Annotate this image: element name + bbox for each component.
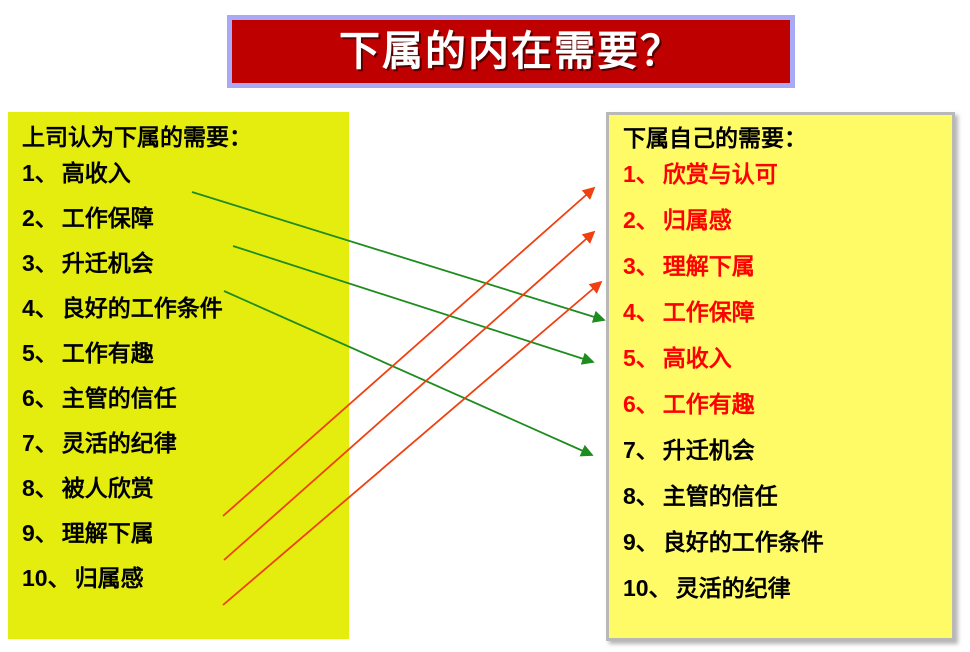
list-item-index: 9 <box>623 531 636 554</box>
list-item-index: 5 <box>22 342 35 365</box>
list-item: 5、高收入 <box>623 347 952 370</box>
list-item: 3、理解下属 <box>623 255 952 278</box>
list-item-index: 1 <box>623 163 636 186</box>
list-item-label: 高收入 <box>62 162 131 185</box>
list-item-label: 欣赏与认可 <box>663 163 778 186</box>
list-item: 5、工作有趣 <box>22 342 349 365</box>
list-item-index: 1 <box>22 162 35 185</box>
list-item-separator: 、 <box>35 477 58 500</box>
list-item-label: 理解下属 <box>62 522 154 545</box>
list-item-index: 8 <box>22 477 35 500</box>
list-item-separator: 、 <box>35 432 58 455</box>
list-item-separator: 、 <box>636 209 659 232</box>
list-item: 1、高收入 <box>22 162 349 185</box>
list-item-separator: 、 <box>35 252 58 275</box>
list-item-separator: 、 <box>636 439 659 462</box>
list-item-label: 良好的工作条件 <box>62 297 223 320</box>
list-item: 2、工作保障 <box>22 207 349 230</box>
employee-actual-needs-panel: 下属自己的需要： 1、欣赏与认可2、归属感3、理解下属4、工作保障5、高收入6、… <box>606 112 955 641</box>
list-item: 7、升迁机会 <box>623 439 952 462</box>
list-item: 6、工作有趣 <box>623 393 952 416</box>
list-item-separator: 、 <box>35 207 58 230</box>
list-item-label: 理解下属 <box>663 255 755 278</box>
list-item-separator: 、 <box>35 297 58 320</box>
list-item: 9、理解下属 <box>22 522 349 545</box>
manager-assumptions-list: 1、高收入2、工作保障3、升迁机会4、良好的工作条件5、工作有趣6、主管的信任7… <box>22 162 349 590</box>
list-item-separator: 、 <box>636 163 659 186</box>
list-item-separator: 、 <box>35 387 58 410</box>
list-item: 4、工作保障 <box>623 301 952 324</box>
list-item-separator: 、 <box>35 342 58 365</box>
list-item-label: 良好的工作条件 <box>663 531 824 554</box>
list-item-separator: 、 <box>35 522 58 545</box>
list-item-index: 7 <box>22 432 35 455</box>
list-item-separator: 、 <box>636 255 659 278</box>
list-item-separator: 、 <box>636 347 659 370</box>
list-item-label: 灵活的纪律 <box>62 432 177 455</box>
list-item-label: 主管的信任 <box>62 387 177 410</box>
list-item-index: 8 <box>623 485 636 508</box>
list-item-index: 6 <box>22 387 35 410</box>
right-panel-heading: 下属自己的需要： <box>623 127 952 150</box>
list-item-index: 3 <box>623 255 636 278</box>
list-item: 4、良好的工作条件 <box>22 297 349 320</box>
list-item: 3、升迁机会 <box>22 252 349 275</box>
list-item-separator: 、 <box>649 577 672 600</box>
list-item-separator: 、 <box>636 531 659 554</box>
list-item: 2、归属感 <box>623 209 952 232</box>
list-item-label: 工作有趣 <box>62 342 154 365</box>
list-item-index: 6 <box>623 393 636 416</box>
list-item-index: 4 <box>22 297 35 320</box>
list-item-label: 工作保障 <box>663 301 755 324</box>
employee-actual-needs-list: 1、欣赏与认可2、归属感3、理解下属4、工作保障5、高收入6、工作有趣7、升迁机… <box>623 163 952 600</box>
list-item-separator: 、 <box>35 162 58 185</box>
list-item-index: 5 <box>623 347 636 370</box>
list-item-index: 7 <box>623 439 636 462</box>
list-item: 8、被人欣赏 <box>22 477 349 500</box>
list-item-index: 4 <box>623 301 636 324</box>
list-item-label: 主管的信任 <box>663 485 778 508</box>
list-item-separator: 、 <box>636 301 659 324</box>
list-item: 7、灵活的纪律 <box>22 432 349 455</box>
list-item-label: 工作有趣 <box>663 393 755 416</box>
slide-title-banner: 下属的内在需要？ <box>232 20 790 83</box>
list-item-separator: 、 <box>636 393 659 416</box>
list-item-index: 2 <box>623 209 636 232</box>
list-item-separator: 、 <box>636 485 659 508</box>
list-item-label: 归属感 <box>663 209 732 232</box>
page-title: 下属的内在需要？ <box>339 31 683 72</box>
list-item-label: 高收入 <box>663 347 732 370</box>
list-item-separator: 、 <box>48 567 71 590</box>
manager-assumptions-panel: 上司认为下属的需要： 1、高收入2、工作保障3、升迁机会4、良好的工作条件5、工… <box>8 112 349 639</box>
list-item-label: 归属感 <box>75 567 144 590</box>
list-item-index: 9 <box>22 522 35 545</box>
list-item: 9、良好的工作条件 <box>623 531 952 554</box>
left-panel-heading: 上司认为下属的需要： <box>22 126 349 149</box>
list-item-label: 工作保障 <box>62 207 154 230</box>
list-item-index: 10 <box>623 577 649 600</box>
list-item: 10、归属感 <box>22 567 349 590</box>
list-item-label: 被人欣赏 <box>62 477 154 500</box>
list-item-index: 10 <box>22 567 48 590</box>
list-item-index: 2 <box>22 207 35 230</box>
list-item-label: 灵活的纪律 <box>676 577 791 600</box>
list-item: 10、灵活的纪律 <box>623 577 952 600</box>
list-item: 1、欣赏与认可 <box>623 163 952 186</box>
list-item: 8、主管的信任 <box>623 485 952 508</box>
list-item-label: 升迁机会 <box>663 439 755 462</box>
list-item-index: 3 <box>22 252 35 275</box>
list-item-label: 升迁机会 <box>62 252 154 275</box>
list-item: 6、主管的信任 <box>22 387 349 410</box>
